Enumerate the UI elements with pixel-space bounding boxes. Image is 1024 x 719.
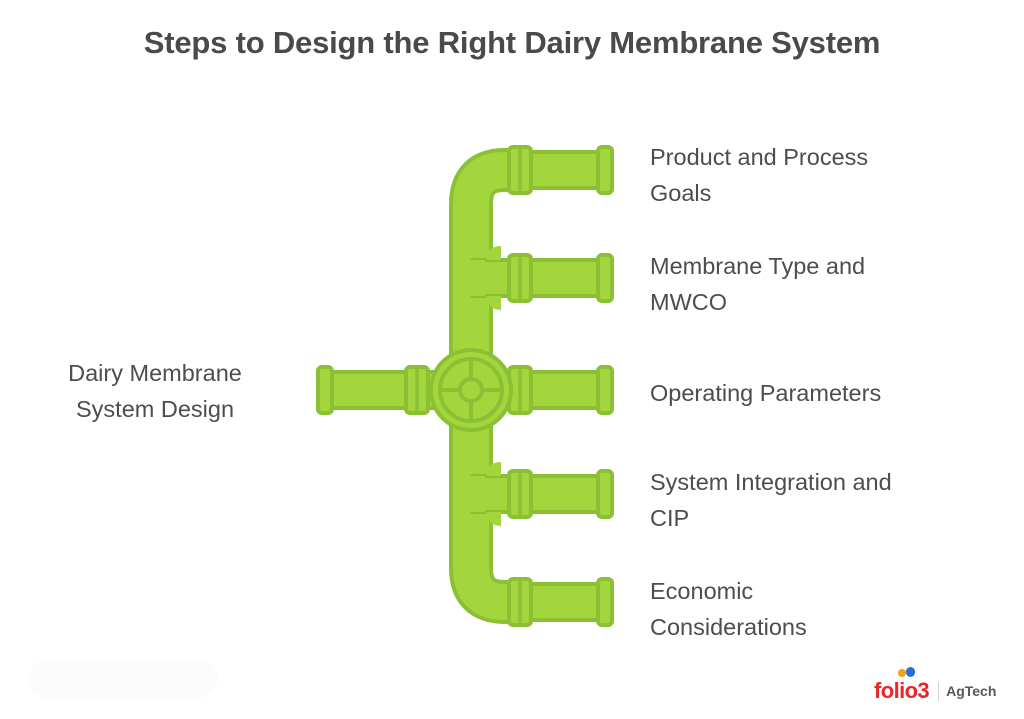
step-label-4-line-1: System Integration and xyxy=(650,465,980,501)
step-label-2-line-2: MWCO xyxy=(650,285,980,321)
infographic-canvas: Steps to Design the Right Dairy Membrane… xyxy=(0,0,1024,719)
step-label-2: Membrane Type and MWCO xyxy=(650,249,980,321)
logo-dot-blue-icon xyxy=(906,667,916,677)
logo-suffix: AgTech xyxy=(946,684,996,698)
logo-divider xyxy=(938,682,939,701)
step-label-3: Operating Parameters xyxy=(650,376,980,412)
root-node-label-line-2: System Design xyxy=(20,392,290,428)
step-label-5-line-1: Economic xyxy=(650,574,980,610)
step-label-5-line-2: Considerations xyxy=(650,610,980,646)
step-label-1-line-1: Product and Process xyxy=(650,140,980,176)
step-label-4: System Integration and CIP xyxy=(650,465,980,537)
logo-dot-orange-icon xyxy=(898,669,906,677)
pipe-branch-3 xyxy=(509,367,612,413)
root-node-label: Dairy Membrane System Design xyxy=(20,356,290,428)
logo-wordmark: folio3 xyxy=(874,680,929,702)
step-label-2-line-1: Membrane Type and xyxy=(650,249,980,285)
step-label-3-line-1: Operating Parameters xyxy=(650,376,980,412)
pipe-branch-5 xyxy=(509,579,612,625)
root-node-label-line-1: Dairy Membrane xyxy=(20,356,290,392)
step-label-1-line-2: Goals xyxy=(650,176,980,212)
step-label-5: Economic Considerations xyxy=(650,574,980,646)
pipe-branch-1 xyxy=(509,147,612,193)
pipe-branch-4 xyxy=(509,471,612,517)
step-label-4-line-2: CIP xyxy=(650,501,980,537)
brand-logo: folio3 AgTech xyxy=(874,676,996,706)
step-label-1: Product and Process Goals xyxy=(650,140,980,212)
pipe-branch-2 xyxy=(509,255,612,301)
gate-valve-handwheel-icon xyxy=(431,348,511,432)
